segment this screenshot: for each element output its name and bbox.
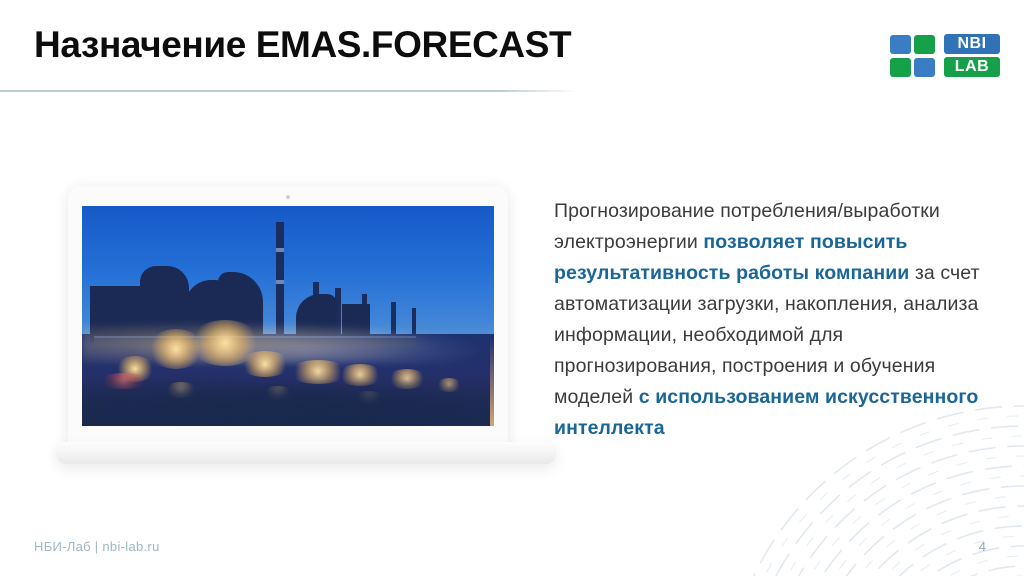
footer-credit: НБИ-Лаб | nbi-lab.ru xyxy=(34,539,160,554)
page-number: 4 xyxy=(979,539,986,554)
laptop-mockup xyxy=(56,186,556,476)
camera-icon xyxy=(286,195,290,199)
logo-square-bottom-right xyxy=(914,58,935,77)
laptop-screen-photo xyxy=(82,206,494,426)
slide: Назначение EMAS.FORECAST NBI LAB xyxy=(0,0,1024,576)
laptop-lid xyxy=(68,186,508,448)
logo-square-top-left xyxy=(890,35,911,54)
photo-warm-edge xyxy=(490,206,494,426)
body-paragraph: Прогнозирование потребления/выработки эл… xyxy=(554,196,994,444)
logo-grid-icon xyxy=(890,35,938,79)
logo-square-bottom-left xyxy=(890,58,911,77)
title-divider xyxy=(0,90,578,92)
laptop-base xyxy=(56,442,556,464)
nbi-lab-logo: NBI LAB xyxy=(890,31,1000,81)
page-title: Назначение EMAS.FORECAST xyxy=(34,24,571,66)
logo-word-nbi: NBI xyxy=(944,34,1000,54)
photo-tree-line xyxy=(82,369,494,426)
logo-square-top-right xyxy=(914,35,935,54)
logo-word-lab: LAB xyxy=(944,57,1000,77)
